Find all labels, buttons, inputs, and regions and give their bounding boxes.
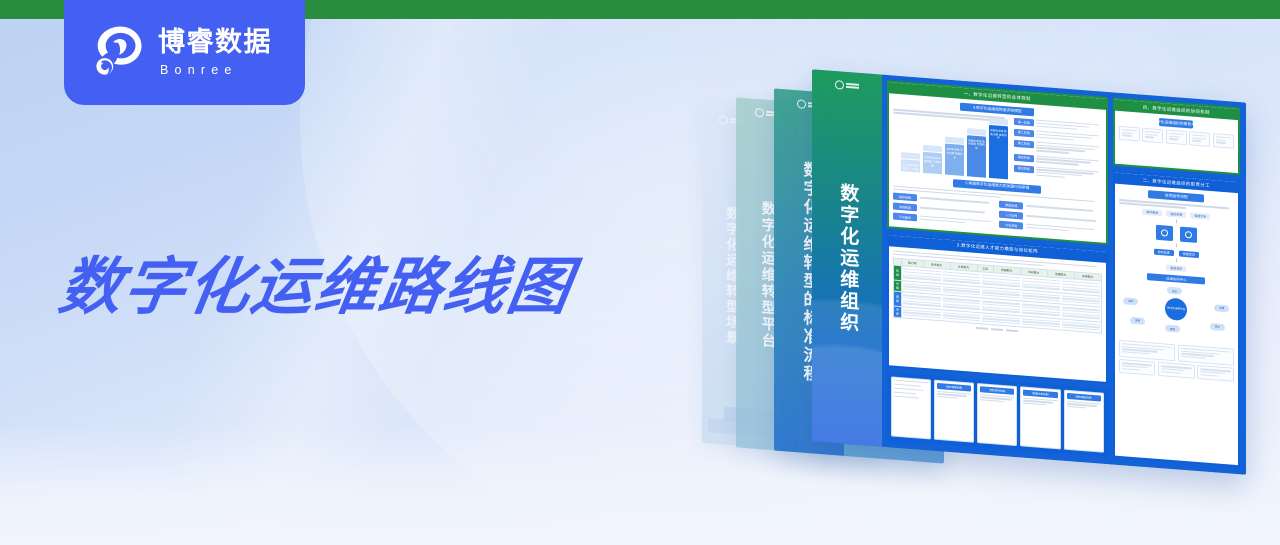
bar-label: 手工运维 被动响应 人工处置 bbox=[902, 163, 919, 172]
row-label: 专家 bbox=[894, 306, 902, 318]
bar-stage-4: 数据化运维 指标驱动 可观测性 bbox=[967, 135, 986, 177]
hub-diagram: 数字化运维中台 监控 告警 变更 容量 成本 安全 bbox=[1119, 281, 1234, 346]
bar-stage-3: 自动化运维 平台支撑 批量作业 bbox=[945, 144, 964, 176]
section-panel-collaboration-mechanism: 组织保障机制 流程协同机制 数据共享机制 bbox=[887, 372, 1108, 457]
poster-title: 数字化运维转型平台 bbox=[758, 200, 775, 350]
footer-card: 数据共享机制 bbox=[1020, 386, 1060, 449]
flow-node: 监控告警 bbox=[1166, 211, 1186, 219]
collaboration-flowchart: 事件触发 监控告警 智能分析 bbox=[1119, 207, 1234, 276]
mechanism-box bbox=[1119, 340, 1175, 361]
footer-card-header: 数据共享机制 bbox=[1023, 389, 1057, 398]
capability-tag: 流程再造 bbox=[893, 203, 917, 212]
section-panel-responsibility: 二、数字化运维组织的职责分工 协同运作流程 事件触发 监控告警 智能分析 bbox=[1113, 171, 1240, 467]
role-box bbox=[1189, 131, 1210, 147]
poster-spine: 数字化运维组织 bbox=[812, 69, 882, 446]
brand-name-cn: 博睿数据 bbox=[158, 27, 272, 58]
chart-plot-area: 手工运维 被动响应 人工处置 标准化运维 流程规范 工具辅助 bbox=[893, 116, 1010, 179]
section-panel-skill-matrix: 3.数字化运维人才能力模型与岗位矩阵 能力域 技术能力 业务能力 工具 bbox=[887, 233, 1108, 384]
capability-tag: 平台建设 bbox=[893, 213, 917, 222]
bar-stage-2: 标准化运维 流程规范 工具辅助 bbox=[923, 152, 942, 174]
mechanism-box bbox=[1178, 344, 1234, 365]
brand-name-en: Bonree bbox=[160, 63, 272, 78]
hub-satellite: 告警 bbox=[1214, 304, 1229, 312]
role-box bbox=[1166, 130, 1187, 146]
maturity-stage-descriptions: 第一阶段 第二阶段 第三阶段 第四阶段 第五阶段 bbox=[1014, 118, 1102, 186]
flow-node: 根因定位 bbox=[1179, 251, 1199, 259]
roles-subheading: 2.数字化运维组织的角色与职责 bbox=[1159, 118, 1193, 129]
poster-organization[interactable]: 数字化运维组织 一、数字化运维转型的总体规划 4.数字化运维成熟度评估模型 bbox=[812, 69, 1246, 474]
flow-icon-box bbox=[1180, 227, 1197, 243]
hub-satellite: 监控 bbox=[1123, 297, 1138, 305]
flow-node: 自动处置 bbox=[1154, 249, 1174, 257]
footer-card bbox=[891, 376, 931, 439]
capability-tag: 人才培养 bbox=[999, 211, 1023, 220]
footer-card-header: 流程协同机制 bbox=[980, 386, 1014, 395]
maturity-bar-chart: 手工运维 被动响应 人工处置 标准化运维 流程规范 工具辅助 bbox=[893, 109, 1010, 180]
flow-icon-box bbox=[1156, 225, 1173, 241]
capability-tag: 数据治理 bbox=[999, 201, 1023, 210]
role-box bbox=[1142, 128, 1163, 144]
footer-card: 流程协同机制 bbox=[977, 383, 1017, 446]
mechanism-box bbox=[1119, 359, 1156, 376]
hub-satellite: 安全 bbox=[1167, 287, 1182, 295]
flow-node: 事件触发 bbox=[1142, 209, 1162, 217]
capability-tag: 文化转型 bbox=[999, 221, 1023, 230]
mechanism-box bbox=[1197, 365, 1234, 382]
bar-label: 智能化运维 智能决策 自愈闭环 bbox=[990, 129, 1007, 142]
hub-satellite: 容量 bbox=[1165, 325, 1180, 333]
bar-stage-1: 手工运维 被动响应 人工处置 bbox=[901, 159, 920, 172]
capability-tag: 组织保障 bbox=[893, 193, 917, 202]
poster-title: 数字化运维组织 bbox=[836, 182, 858, 334]
hub-center: 数字化运维中台 bbox=[1165, 297, 1187, 321]
poster-sheet: 一、数字化运维转型的总体规划 4.数字化运维成熟度评估模型 bbox=[882, 75, 1246, 475]
page-title: 数字化运维路线图 bbox=[54, 236, 580, 326]
brand-logo-card: 博睿数据 Bonree bbox=[64, 0, 305, 105]
hub-satellite: 变更 bbox=[1130, 316, 1145, 324]
poster-stack: 数字化运维转型场景 数字化运维转型平台 数字化运维转型的标准流程 数字化运维 bbox=[688, 86, 1248, 476]
row-label: 初级 bbox=[894, 265, 902, 280]
poster-spine-logo-icon bbox=[835, 80, 859, 91]
brand-logo-text: 博睿数据 Bonree bbox=[158, 27, 272, 77]
flow-node: 复盘改进 bbox=[1166, 265, 1186, 273]
hub-satellite: 成本 bbox=[1210, 323, 1225, 331]
role-box bbox=[1213, 133, 1234, 149]
bar-label: 自动化运维 平台支撑 批量作业 bbox=[946, 148, 963, 161]
footer-card: 组织保障机制 bbox=[934, 379, 974, 442]
section-panel-roles: 四、数字化运维组织的协同机制 2.数字化运维组织的角色与职责 bbox=[1113, 97, 1240, 175]
stage-tag: 第四阶段 bbox=[1014, 153, 1034, 162]
role-box bbox=[1119, 126, 1140, 142]
row-label: 高级 bbox=[894, 291, 902, 306]
mechanism-box bbox=[1158, 362, 1195, 379]
footer-card-header: 考核激励机制 bbox=[1067, 392, 1101, 401]
row-label: 中级 bbox=[894, 280, 902, 292]
section-panel-overall-plan: 一、数字化运维转型的总体规划 4.数字化运维成熟度评估模型 bbox=[887, 80, 1108, 245]
bar-label: 标准化运维 流程规范 工具辅助 bbox=[924, 156, 941, 169]
bonree-spiral-logo-icon bbox=[86, 20, 152, 86]
bar-label: 数据化运维 指标驱动 可观测性 bbox=[968, 139, 985, 152]
flow-node: 智能分析 bbox=[1190, 212, 1210, 220]
stage-tag: 第三阶段 bbox=[1014, 140, 1034, 149]
flow-subheading: 协同运作流程 bbox=[1148, 191, 1204, 203]
stage-tag: 第五阶段 bbox=[1014, 164, 1034, 173]
footer-card-header: 组织保障机制 bbox=[937, 383, 971, 392]
stage-tag: 第一阶段 bbox=[1014, 118, 1034, 127]
stage-tag: 第二阶段 bbox=[1014, 129, 1034, 138]
footer-card: 考核激励机制 bbox=[1064, 389, 1104, 452]
bar-stage-5: 智能化运维 智能决策 自愈闭环 bbox=[989, 125, 1008, 179]
